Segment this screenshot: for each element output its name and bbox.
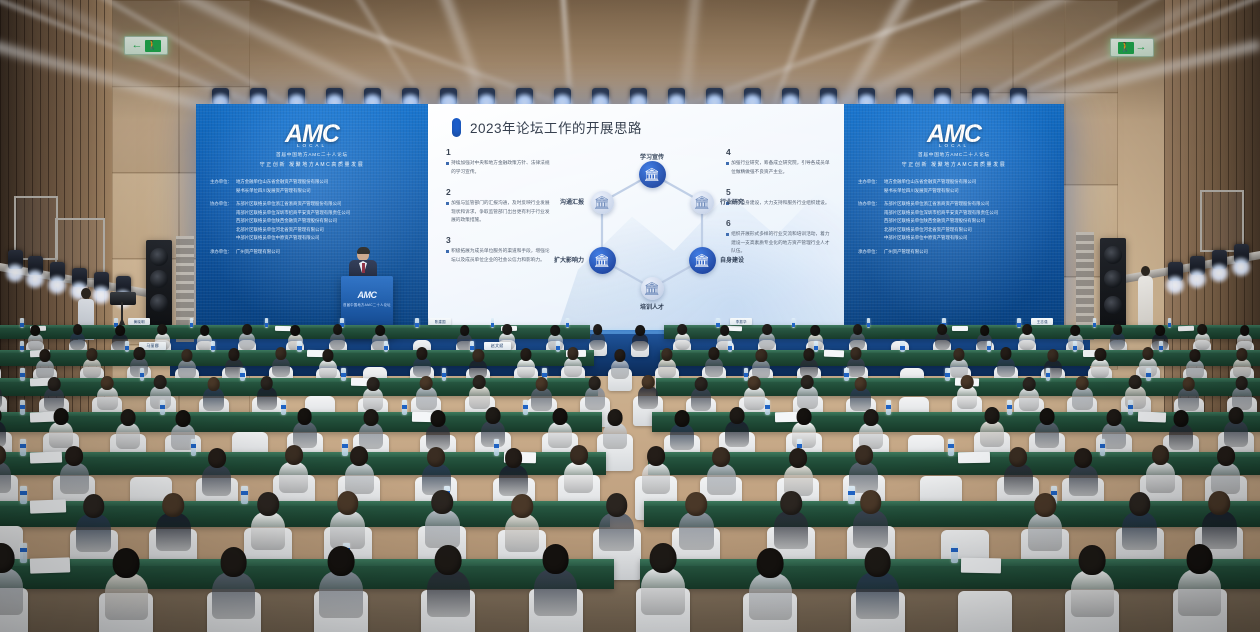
attendee-head (1113, 324, 1123, 335)
audience-member (257, 376, 277, 410)
attendee-head (810, 325, 820, 336)
bank-icon: 🏛 (594, 196, 611, 209)
audience-member (330, 324, 346, 350)
attendee-head (242, 324, 252, 335)
attendee-head (333, 324, 343, 335)
document-paper (1138, 412, 1166, 423)
attendee-head (1070, 325, 1080, 336)
credit-value: 中部片区联络员单位中原资产管理有限公司 (884, 234, 1054, 243)
exit-arrow-left-icon: ← (132, 40, 143, 51)
audience-member (1211, 446, 1240, 494)
audience-member (1019, 377, 1039, 411)
audience-member (850, 377, 870, 411)
attendee-torso (239, 333, 255, 350)
attendee-head (200, 325, 210, 336)
hexagon-node-diagram: 🏛学习宣传🏛行业研究🏛自身建设🏛培训人才🏛扩大影响力🏛沟通汇报 (568, 150, 736, 322)
attendee-head (208, 448, 226, 468)
audience-member (1202, 491, 1237, 549)
attendee-head (712, 447, 730, 467)
bank-icon: 🏛 (694, 196, 711, 209)
attendee-torso (856, 572, 899, 620)
audience-member (1224, 407, 1248, 447)
slide-list-item: 3积极拓展为成员单位服务的渠道和手段，增强论坛以及成员单位企业的社会公信力和影响… (446, 236, 550, 265)
slide-item-number: 6 (726, 219, 830, 228)
attendee-head (511, 494, 533, 518)
water-bottle (20, 341, 24, 352)
audience-member (950, 348, 968, 378)
exit-arrow-right-icon: → (1136, 42, 1147, 53)
credit-value: 南部片区联络员单位深圳市招商平安资产管理有限责任公司 (236, 209, 418, 218)
audience-member (1028, 493, 1063, 551)
amc-logo-sub-right: LOCAL (844, 143, 1064, 148)
document-paper (958, 452, 990, 464)
audience-member (44, 377, 64, 411)
attendee-head (854, 377, 867, 391)
spotlight-glow (24, 268, 46, 290)
attendee-torso (1035, 422, 1059, 448)
pa-speaker-stack-left (146, 240, 172, 326)
attendee-head (980, 325, 990, 336)
attendee-head (762, 324, 772, 335)
attendee-head (350, 446, 368, 466)
audience-member (792, 408, 816, 448)
ring-node-行业研究: 🏛 (691, 191, 714, 214)
ring-node-label: 扩大影响力 (554, 255, 584, 264)
audience-member (856, 547, 899, 619)
attendee-head (65, 446, 83, 466)
table-nameplate: 李振华 (730, 318, 752, 325)
attendee-head (864, 547, 891, 577)
audience-member (1071, 545, 1114, 617)
water-bottle (951, 543, 958, 563)
attendee-head (427, 447, 445, 467)
amc-logo-mark-left: AMC (196, 122, 428, 147)
audience-member (585, 376, 605, 410)
attendee-torso (1178, 388, 1198, 410)
attendee-head (1129, 492, 1151, 516)
credit-row: 协办单位：东部片区联络员单位浙江省浙商资产管理股份有限公司南部片区联络员单位深圳… (858, 200, 1054, 243)
credit-value: 地方金融单位山东省金融资产管理股份有限公司 (236, 178, 418, 187)
attendee-torso (847, 358, 865, 378)
audience-member (1091, 348, 1109, 378)
running-person-icon-right: 🚶 (1118, 42, 1134, 54)
attendee-head (1074, 448, 1092, 468)
slide-item-text-row: 加强与监管部门的汇报沟通，及时反映行业发展现状和诉求，争取监管部门出台更有利于行… (446, 199, 550, 225)
spotlight-glow (1164, 274, 1186, 296)
audience-member (359, 409, 383, 449)
truss-frame-right (1200, 190, 1244, 252)
water-bottle (240, 368, 245, 381)
audience-member (0, 445, 11, 493)
audience-member (36, 349, 54, 379)
credit-value: 秘书长单位四川发展资产管理有限公司 (884, 187, 1054, 196)
audience-member (853, 490, 888, 548)
attendee-head (53, 408, 68, 425)
video-camera-icon (110, 292, 136, 305)
attendee-head (1107, 409, 1122, 426)
attendee-head (1209, 491, 1231, 515)
attendee-head (748, 376, 761, 390)
credit-value: 西部片区联络员单位陕西金融资产管理股份有限公司 (236, 217, 418, 226)
attendee-head (115, 325, 125, 336)
pa-cone-left-1 (150, 248, 168, 266)
audience-member (427, 545, 470, 617)
slide-item-text-row: 积极拓展为成员单位服务的渠道和手段，增强论坛以及成员单位企业的社会公信力和影响力… (446, 247, 550, 264)
attendee-torso (212, 572, 255, 620)
attendee-torso (670, 424, 694, 450)
slide-item-text: 抓好自身建设，大力支持和服务行业组织建设。 (731, 199, 830, 208)
attendee-torso (1122, 512, 1157, 550)
attendee-torso (632, 334, 648, 351)
attendee-head (675, 410, 690, 427)
attendee-head (30, 325, 40, 336)
slide-list-item: 4加强行业研究，筹备成立研究院，引导各成员单位做精做强不良资产主业。 (726, 148, 830, 177)
audience-member (1237, 325, 1253, 351)
audience-member (116, 409, 140, 449)
attendee-head (780, 491, 802, 515)
attendee-torso (257, 387, 277, 409)
attendee-head (1240, 325, 1250, 336)
slide-list-item: 2加强与监管部门的汇报沟通，及时反映行业发展现状和诉求，争取监管部门出台更有利于… (446, 188, 550, 225)
audience-member (980, 407, 1004, 447)
attendee-torso (97, 387, 117, 409)
water-bottle (1100, 439, 1106, 456)
attendee-torso (0, 421, 6, 447)
led-panel-left: AMC LOCAL 首届中国地方AMC二十人论坛 守正创新 凝聚地方AMC高质量… (196, 104, 428, 334)
attendee-torso (178, 360, 196, 380)
attendee-head (1155, 325, 1165, 336)
audience-table (0, 559, 614, 589)
audience-member (847, 347, 865, 377)
spotlight-glow (4, 262, 26, 284)
attendee-torso (76, 514, 111, 552)
amc-logo-cn1-right: 首届中国地方AMC二十人论坛 (844, 152, 1064, 158)
attendee-head (1129, 375, 1142, 389)
attendee-head (801, 375, 814, 389)
attendee-torso (1028, 513, 1063, 551)
audience-member (638, 375, 658, 409)
water-bottle (281, 400, 286, 415)
attendee-torso (425, 510, 460, 548)
attendee-torso (70, 333, 86, 350)
audience-member (800, 348, 818, 378)
credit-label: 协办单位： (858, 200, 880, 243)
attendee-head (435, 545, 462, 575)
attendee-head (290, 325, 300, 336)
slide-item-number: 3 (446, 236, 550, 245)
document-paper (30, 451, 62, 464)
attendee-torso (105, 573, 148, 621)
water-bottle (556, 341, 560, 352)
audience-member (272, 347, 290, 377)
ring-node-扩大影响力: 🏛 (589, 247, 616, 274)
audience-member (0, 407, 6, 447)
audience-member (1169, 410, 1193, 450)
attendee-torso (345, 463, 374, 495)
water-bottle (900, 341, 904, 352)
pa-cone-right-3 (1104, 296, 1122, 314)
attendee-torso (1211, 463, 1240, 495)
slide-list-item: 6组织开展形式多样的行业交流和培训活动，着力建设一支高素质专业化的地方资产管理行… (726, 219, 830, 256)
audience-member (279, 445, 308, 493)
audience-member (426, 410, 450, 450)
water-bottle (297, 341, 301, 352)
attendee-torso (707, 464, 736, 496)
audience-member (517, 348, 535, 378)
audience-member (642, 446, 671, 494)
pa-cone-right-1 (1104, 246, 1122, 264)
table-top-edge (640, 559, 1260, 566)
attendee-head (553, 408, 568, 425)
attendee-head (420, 376, 433, 390)
attendee-torso (564, 462, 593, 494)
audience-member (499, 448, 528, 496)
audience-member (957, 375, 977, 409)
audience-member (425, 490, 460, 548)
audience-member (599, 493, 634, 551)
audience-member (178, 349, 196, 379)
attendee-torso (797, 386, 817, 408)
attendee-head (1040, 408, 1055, 425)
attendee-head (570, 445, 588, 465)
slide-item-text: 持续加强对中央和地方金融政策方针、法律法规的学习宣传。 (451, 159, 550, 176)
credit-label: 承办单位： (210, 248, 232, 257)
ring-node-label: 沟通汇报 (560, 197, 584, 206)
water-bottle (844, 368, 849, 381)
water-bottle (1168, 318, 1172, 328)
credit-label: 主办单位： (210, 178, 232, 195)
attendee-torso (1202, 511, 1237, 549)
document-paper (30, 557, 70, 573)
attendee-head (0, 445, 6, 465)
attendee-head (550, 325, 560, 336)
attendee-head (175, 410, 190, 427)
attendee-head (635, 325, 645, 336)
staff-left-head (81, 288, 91, 299)
bank-icon: 🏛 (644, 168, 661, 181)
amc-logo-cn1-left: 首届中国地方AMC二十人论坛 (196, 152, 428, 158)
attendee-torso (658, 359, 676, 379)
wall-panel (1064, 92, 1118, 186)
attendee-head (647, 446, 665, 466)
attendee-head (1076, 376, 1089, 390)
water-bottle (20, 439, 26, 456)
attendee-torso (251, 512, 286, 550)
attendee-head (855, 445, 873, 465)
credit-row: 协办单位：东部片区联络员单位浙江省浙商资产管理股份有限公司南部片区联络员单位深圳… (210, 200, 418, 243)
slide-item-number: 2 (446, 188, 550, 197)
audience-member (319, 349, 337, 379)
attendee-torso (1224, 421, 1248, 447)
audience-member (251, 492, 286, 550)
audience-member (590, 324, 606, 350)
attendee-torso (272, 358, 290, 378)
table-top-edge (0, 378, 598, 382)
bank-icon: 🏛 (644, 282, 661, 295)
audience-member (611, 349, 629, 379)
attendee-torso (1178, 569, 1221, 617)
attendee-torso (641, 568, 684, 616)
water-bottle (867, 318, 871, 328)
slide-column-right: 4加强行业研究，筹备成立研究院，引导各成员单位做精做强不良资产主业。5抓好自身建… (726, 148, 830, 267)
ring-node-label: 行业研究 (720, 197, 744, 206)
attendee-torso (642, 463, 671, 495)
water-bottle (987, 341, 991, 352)
table-top-edge (644, 501, 1260, 507)
pa-cone-left-3 (150, 294, 168, 312)
attendee-head (432, 490, 454, 514)
audience-member (293, 408, 317, 448)
attendee-head (729, 407, 744, 424)
audience-member (670, 410, 694, 450)
audience-member (505, 494, 540, 552)
attendee-head (757, 548, 784, 578)
attendee-torso (197, 334, 213, 351)
slide-title-text: 2023年论坛工作的开展思路 (470, 117, 642, 137)
water-bottle (1128, 400, 1133, 415)
bank-icon: 🏛 (694, 254, 711, 267)
attendee-torso (675, 333, 691, 350)
attendee-head (73, 324, 83, 335)
audience-member (49, 408, 73, 448)
water-bottle (140, 368, 145, 381)
audience-member (935, 324, 951, 350)
audience-member (548, 408, 572, 448)
attendee-torso (1019, 333, 1035, 350)
attendee-torso (599, 513, 634, 551)
audience-member (859, 409, 883, 449)
attendee-head (796, 408, 811, 425)
water-bottle (125, 341, 129, 352)
attendee-head (1235, 376, 1248, 390)
attendee-torso (426, 424, 450, 450)
water-bottle (1093, 318, 1097, 328)
attendee-head (154, 375, 167, 389)
audience-member (1122, 492, 1157, 550)
audience-member (1072, 376, 1092, 410)
water-bottle (523, 400, 528, 415)
attendee-head (285, 445, 303, 465)
attendee-head (606, 493, 628, 517)
water-bottle (415, 318, 419, 328)
audience-member (641, 543, 684, 615)
audience-member (603, 409, 627, 449)
speaker-hair (357, 247, 370, 254)
ring-node-label: 自身建设 (720, 255, 744, 264)
attendee-torso (319, 360, 337, 380)
exit-sign-left: ← 🚶 (124, 36, 168, 55)
attendee-head (790, 448, 808, 468)
audience-member (0, 375, 2, 409)
attendee-head (375, 325, 385, 336)
ring-node-label: 培训人才 (640, 302, 664, 311)
attendee-head (505, 448, 523, 468)
attendee-head (113, 548, 140, 578)
attendee-torso (469, 386, 489, 408)
attendee-torso (416, 387, 436, 409)
audience-member (345, 446, 374, 494)
presentation-slide: 2023年论坛工作的开展思路 1持续加强对中央和地方金融政策方针、法律法规的学习… (428, 104, 844, 334)
audience-member (759, 324, 775, 350)
audience-member (60, 446, 89, 494)
attendee-torso (116, 423, 140, 449)
attendee-head (1174, 410, 1189, 427)
water-bottle (948, 439, 954, 456)
attendee-head (473, 375, 486, 389)
credit-label: 承办单位： (858, 248, 880, 257)
audience-member (1178, 544, 1221, 616)
audience-member (239, 324, 255, 350)
slide-item-text: 加强行业研究，筹备成立研究院，引导各成员单位做精做强不良资产主业。 (731, 159, 830, 176)
bank-icon: 🏛 (594, 254, 611, 267)
attendee-torso (293, 422, 317, 448)
slide-list-item: 1持续加强对中央和地方金融政策方针、法律法规的学习宣传。 (446, 148, 550, 177)
wall-panel (112, 86, 180, 174)
attendee-torso (997, 358, 1015, 378)
audience-member (203, 377, 223, 411)
audience-member (1102, 409, 1126, 449)
wall-panel (960, 0, 1014, 94)
audience-member (691, 377, 711, 411)
water-bottle (792, 318, 796, 328)
audience-member (28, 325, 44, 351)
wall-panel (178, 0, 250, 88)
attendee-torso (774, 511, 809, 549)
attendee-torso (0, 462, 11, 494)
credit-values: 东部片区联络员单位浙江省浙商资产管理股份有限公司南部片区联络员单位深圳市招商平安… (884, 200, 1054, 243)
attendee-head (593, 324, 603, 335)
attendee-head (985, 407, 1000, 424)
attendee-head (961, 375, 974, 389)
audience-member (1146, 445, 1175, 493)
audience-member (319, 546, 362, 618)
slide-item-number: 1 (446, 148, 550, 157)
attendee-head (364, 409, 379, 426)
attendee-torso (850, 388, 870, 410)
attendee-head (542, 544, 569, 574)
audience-member (749, 548, 792, 620)
audience-member (534, 544, 577, 616)
document-paper (961, 558, 1001, 573)
led-panel-right: AMC LOCAL 首届中国地方AMC二十人论坛 守正创新 凝聚地方AMC高质量… (844, 104, 1064, 334)
pa-cone-left-2 (150, 270, 168, 288)
attendee-head (1182, 377, 1195, 391)
attendee-torso (705, 358, 723, 378)
attendee-head (535, 377, 548, 391)
amc-logo-right: AMC LOCAL 首届中国地方AMC二十人论坛 守正创新 凝聚地方AMC高质量… (844, 122, 1064, 168)
attendee-torso (1091, 359, 1109, 379)
audience-member (1004, 447, 1033, 495)
attendee-head (367, 377, 380, 391)
attendee-head (502, 324, 512, 335)
slide-item-text-row: 持续加强对中央和地方金融政策方针、法律法规的学习宣传。 (446, 159, 550, 176)
attendee-head (853, 324, 863, 335)
audience-area: 黄晓明陈建国李振华王志强马丽娜赵文斌 (0, 318, 1260, 632)
audience-member (725, 407, 749, 447)
attendee-head (1197, 324, 1207, 335)
water-bottle (191, 439, 197, 456)
audience-member (0, 543, 23, 615)
credit-value: 南部片区联络员单位深圳市招商平安资产管理有限责任公司 (884, 209, 1054, 218)
attendee-torso (638, 386, 658, 408)
audience-table (644, 501, 1260, 527)
credit-value: 东部片区联络员单位浙江省浙商资产管理股份有限公司 (884, 200, 1054, 209)
credit-value: 北部片区联络员单位河北省资产管理有限公司 (236, 226, 418, 235)
water-bottle (211, 341, 215, 352)
spotlight-glow (1208, 262, 1230, 284)
attendee-head (157, 324, 167, 335)
slide-item-text-row: 组织开展形式多样的行业交流和培训活动，着力建设一支高素质专业化的地方资产管理行业… (726, 230, 830, 256)
